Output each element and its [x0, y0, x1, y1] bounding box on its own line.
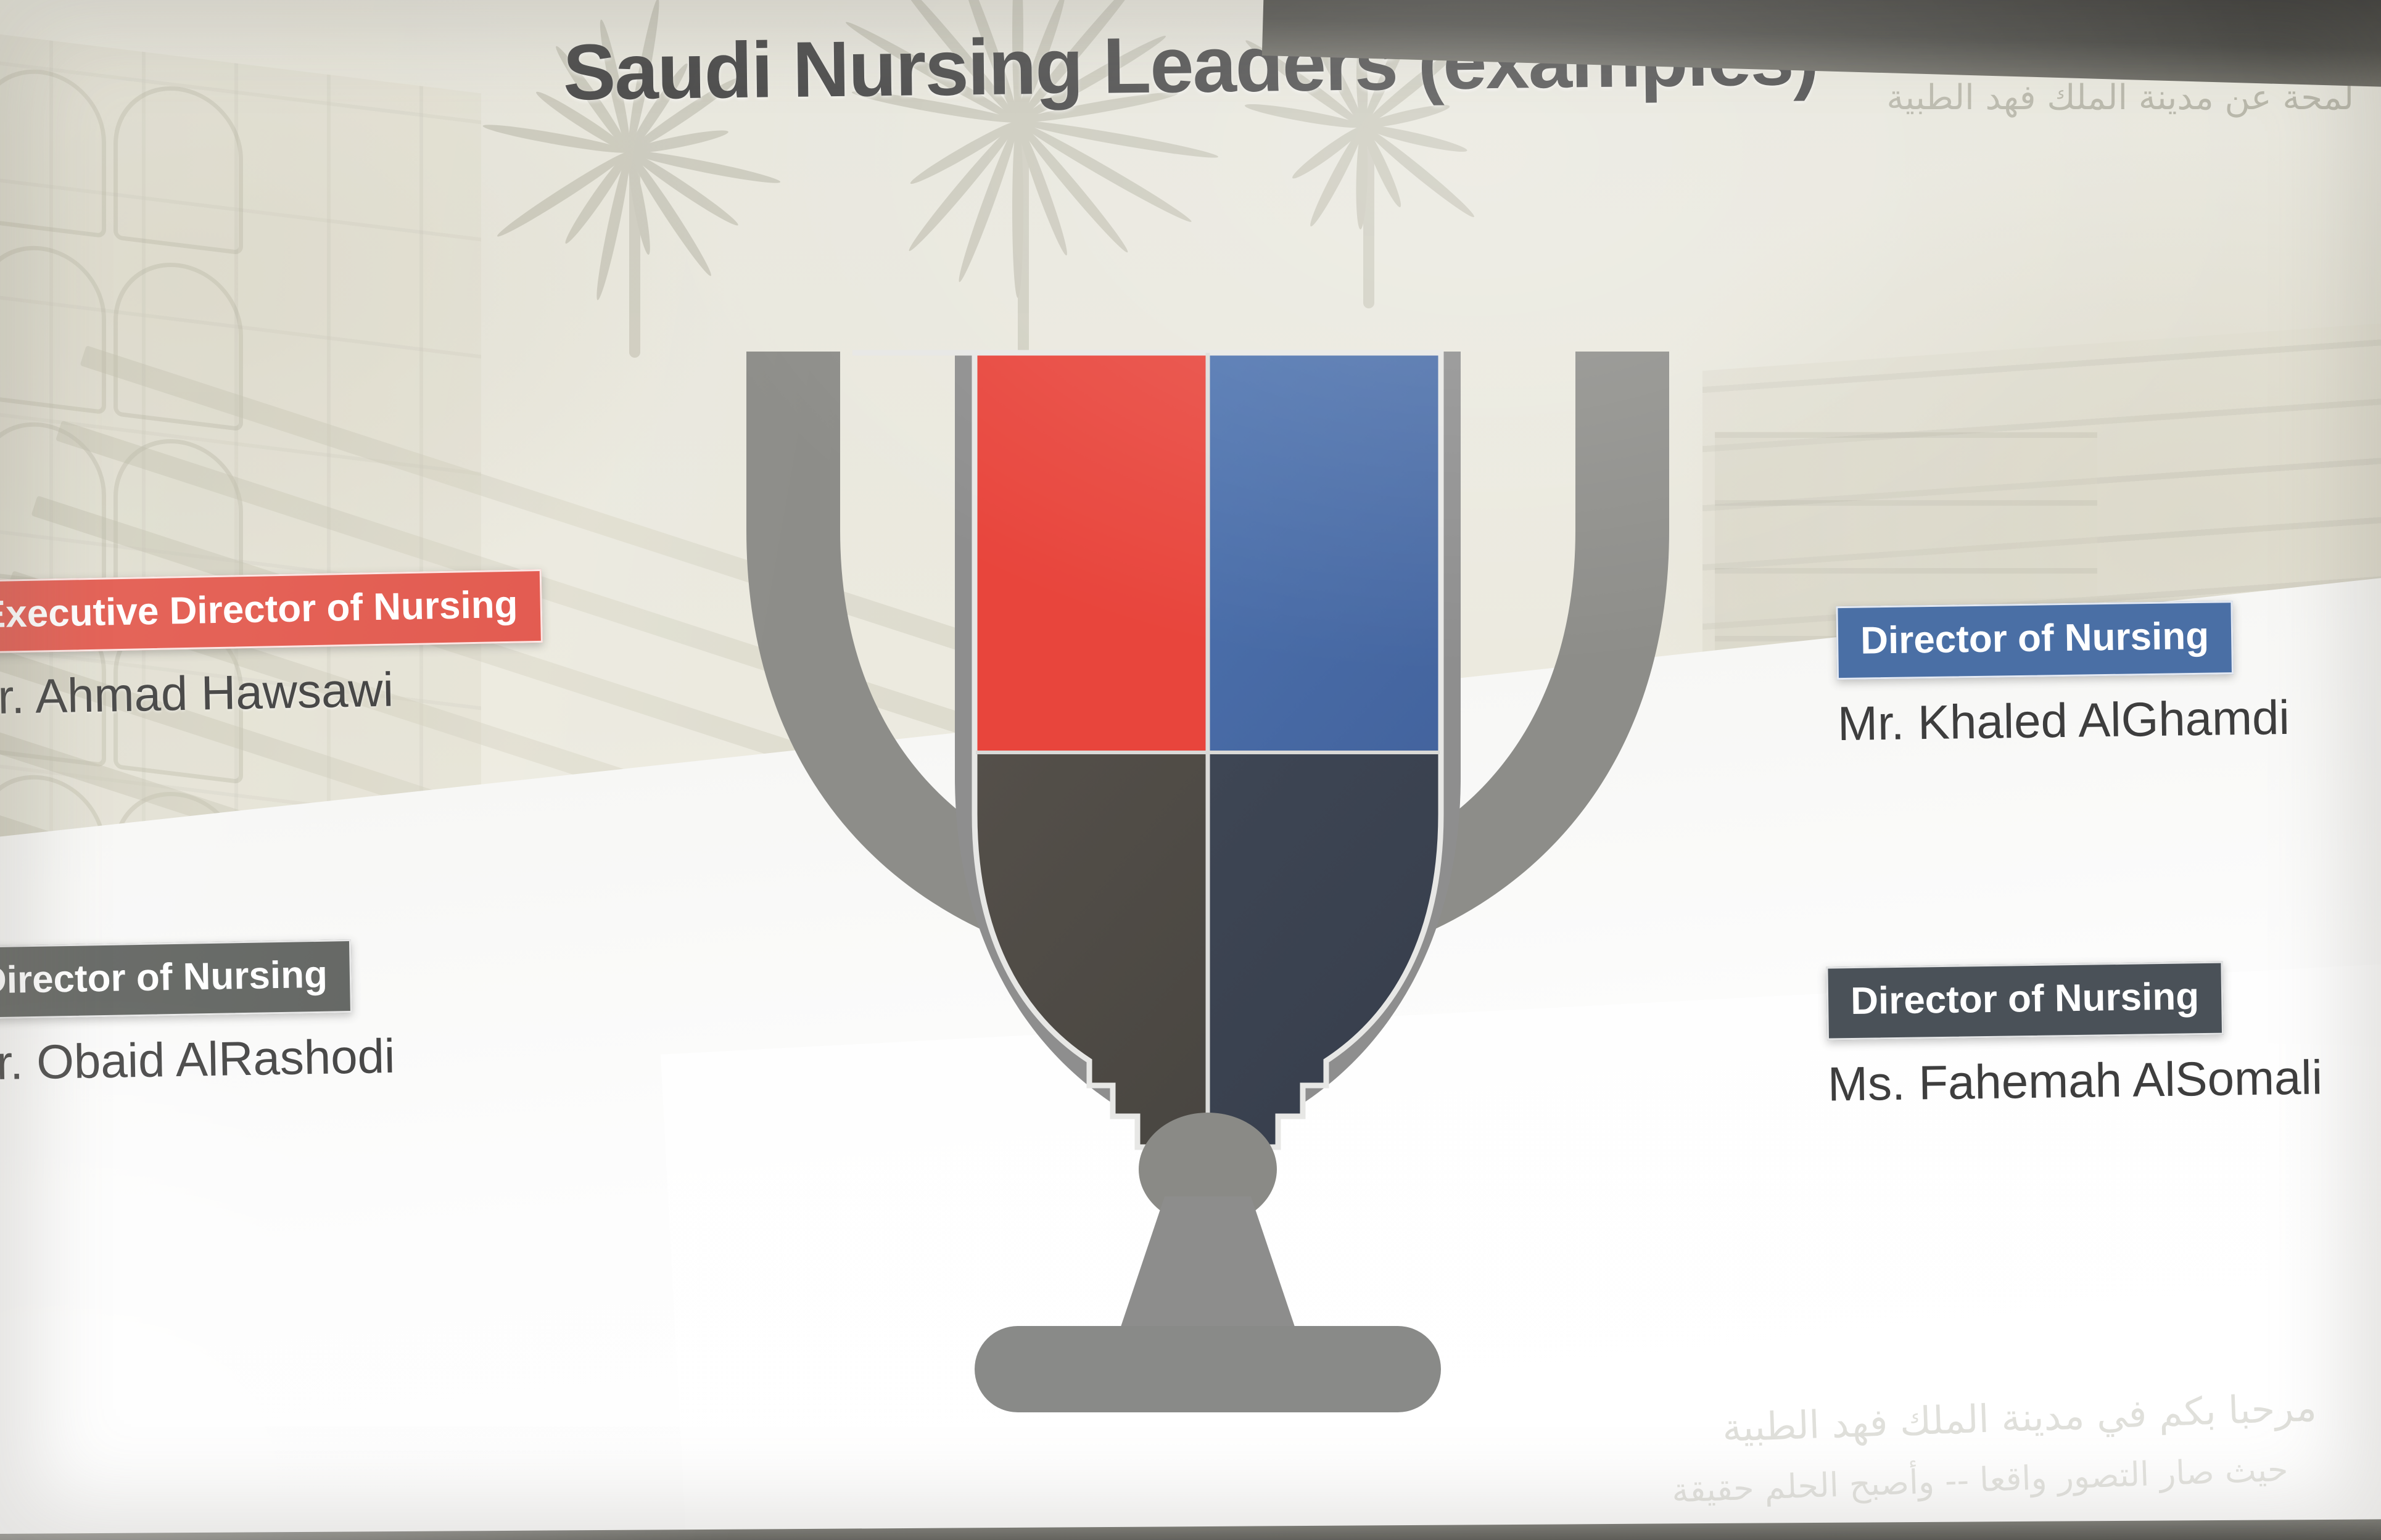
- status-badge: Director of Nursing: [1836, 601, 2234, 680]
- trophy-icon: [709, 345, 1672, 1419]
- leader-name: Mr. Obaid AlRashodi: [0, 1028, 395, 1092]
- leader-card-director-fahemah[interactable]: Director of Nursing Ms. Fahemah AlSomali: [1826, 960, 2322, 1112]
- status-badge: Executive Director of Nursing: [0, 569, 543, 654]
- palm-frond: [1012, 121, 1023, 298]
- leader-name: Ms. Fahemah AlSomali: [1827, 1049, 2322, 1112]
- projected-slide-screen: لمحة عن مدينة الملك فهد الطبية مرحبا بكم…: [0, 0, 2381, 1540]
- palm-frond: [905, 118, 1022, 255]
- leader-name: Mr. Ahmad Hawsawi: [0, 659, 544, 726]
- leader-card-executive-director[interactable]: Executive Director of Nursing Mr. Ahmad …: [0, 569, 544, 726]
- status-badge: Director of Nursing: [0, 939, 352, 1019]
- leader-card-director-obaid[interactable]: Director of Nursing Mr. Obaid AlRashodi: [0, 939, 395, 1092]
- leader-card-director-khaled[interactable]: Director of Nursing Mr. Khaled AlGhamdi: [1836, 600, 2290, 752]
- leader-name: Mr. Khaled AlGhamdi: [1837, 690, 2290, 752]
- status-badge: Director of Nursing: [1826, 961, 2224, 1040]
